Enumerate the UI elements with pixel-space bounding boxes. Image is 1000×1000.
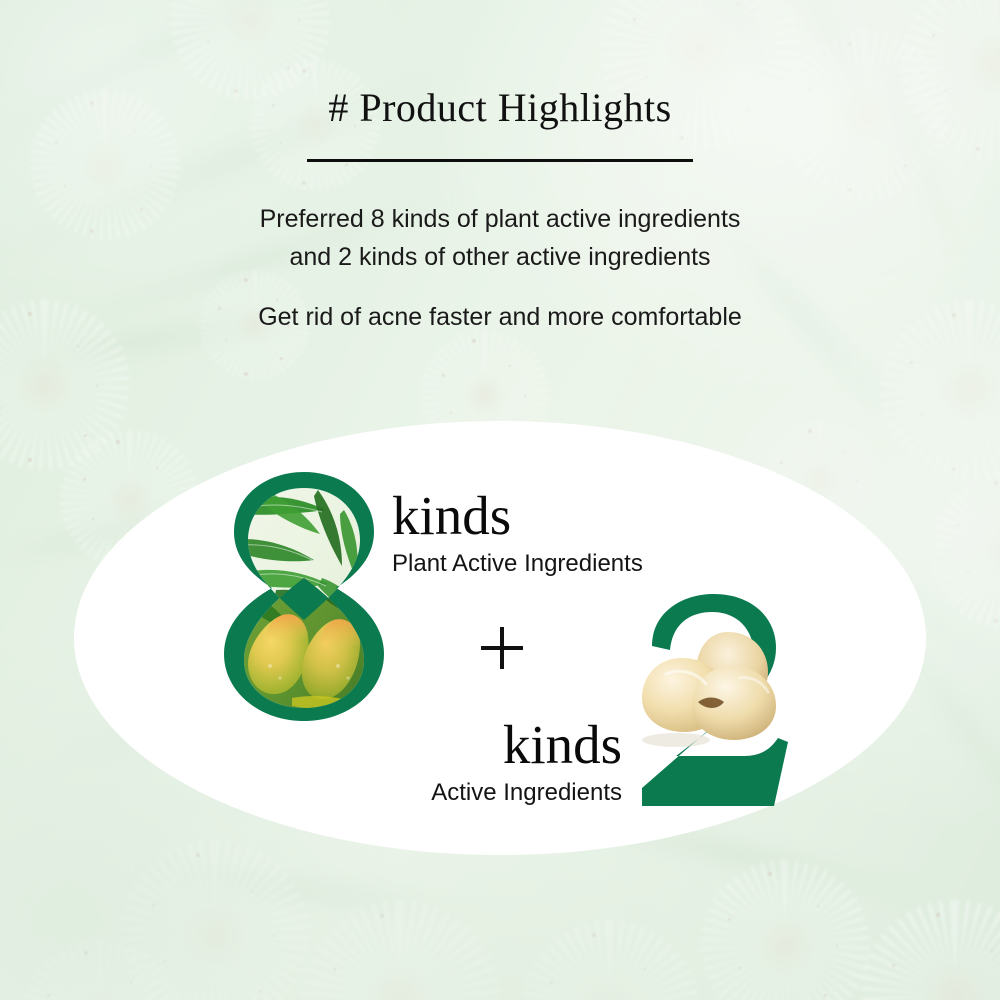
numeral-eight [222, 470, 386, 723]
other-ingredients-label: Active Ingredients [330, 778, 622, 808]
subheading-line-2: and 2 kinds of other active ingredients [0, 238, 1000, 276]
title-divider [307, 159, 693, 162]
subheading-line-1: Preferred 8 kinds of plant active ingred… [0, 200, 1000, 238]
plant-kinds-word: kinds [392, 487, 643, 545]
subheading-spacer [0, 276, 1000, 298]
plus-icon [481, 627, 523, 669]
numeral-two [636, 592, 798, 814]
page-title: # Product Highlights [0, 88, 1000, 128]
product-highlights-graphic: # Product Highlights Preferred 8 kinds o… [0, 0, 1000, 1000]
other-kinds-word: kinds [330, 716, 622, 774]
subheading-block: Preferred 8 kinds of plant active ingred… [0, 200, 1000, 336]
plant-ingredients-label: Plant Active Ingredients [392, 549, 643, 579]
header: # Product Highlights [0, 88, 1000, 162]
subheading-line-3: Get rid of acne faster and more comforta… [0, 298, 1000, 336]
other-ingredients-label-group: kinds Active Ingredients [330, 716, 622, 808]
plant-ingredients-label-group: kinds Plant Active Ingredients [392, 487, 643, 579]
